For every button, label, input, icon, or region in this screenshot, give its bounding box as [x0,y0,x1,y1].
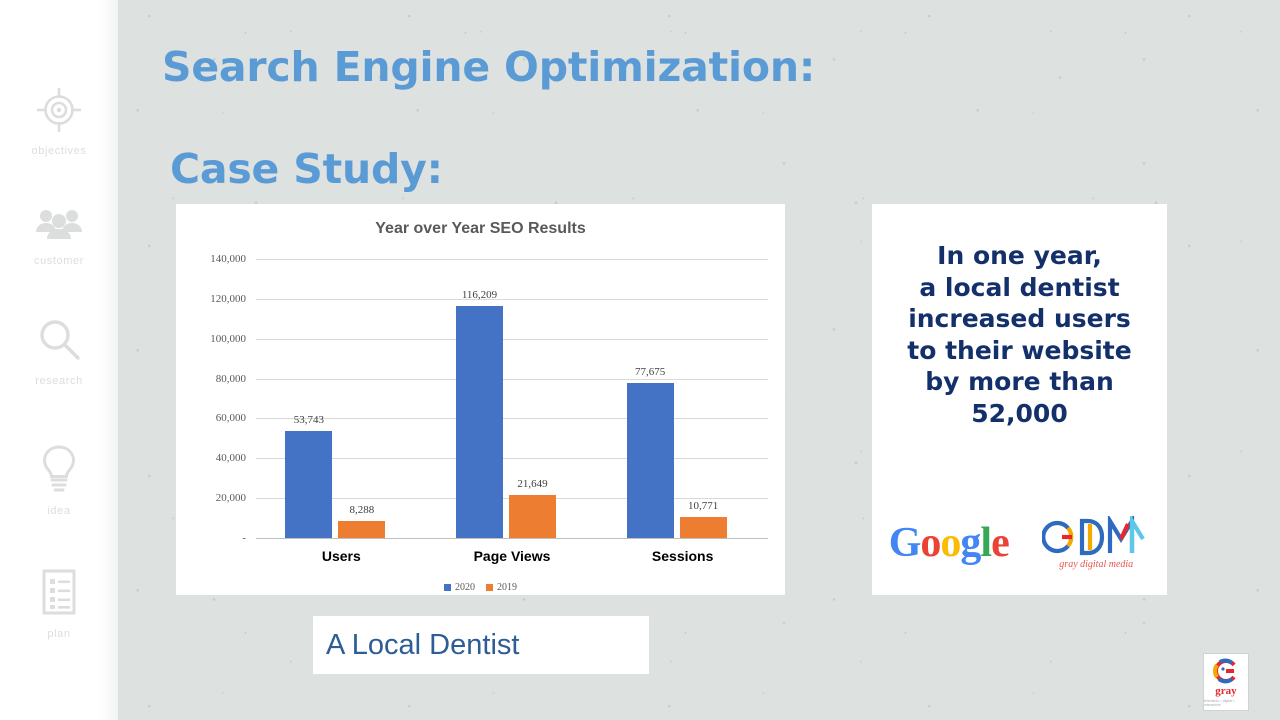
chart-bar-value: 77,675 [613,366,688,378]
gray-corner-logo: gray television • digital • interactive [1203,653,1249,711]
callout-line: 52,000 [872,398,1167,430]
gdm-tagline: gray digital media [1059,559,1133,570]
chart-bar [338,521,385,538]
chart-bar-value: 116,209 [442,289,517,301]
caption-text: A Local Dentist [313,629,519,662]
sidebar-item-label: objectives [32,145,87,157]
caption-box: A Local Dentist [313,616,649,674]
chart-bar [456,306,503,538]
sidebar-item-label: research [35,375,83,387]
sidebar-item-objectives[interactable]: objectives [0,85,118,157]
chart-bar [627,383,674,538]
chart-bar-value: 8,288 [324,504,399,516]
chart-category-label: Sessions [603,548,763,564]
callout-text: In one year,a local dentistincreased use… [872,240,1167,429]
sidebar-item-idea[interactable]: idea [0,443,118,517]
chart-y-tick-label: 60,000 [186,412,246,424]
chart-category-label: Page Views [432,548,592,564]
target-icon [34,85,84,140]
chart-legend-label: 2020 [455,582,475,593]
sidebar-item-label: idea [47,505,70,517]
callout-line: by more than [872,366,1167,398]
chart-gridline [256,339,768,340]
chart-y-tick-label: 80,000 [186,373,246,385]
chart-bar-value: 21,649 [495,478,570,490]
sidebar-item-label: customer [34,255,84,267]
chart-legend-swatch [444,584,451,591]
google-logo: Google [889,522,1009,564]
chart-legend-label: 2019 [497,582,517,593]
sidebar-item-customer[interactable]: customer [0,205,118,267]
callout-card: In one year,a local dentistincreased use… [872,204,1167,595]
sidebar-item-research[interactable]: research [0,315,118,387]
gdm-mark-icon [1042,516,1150,558]
chart-y-tick-label: 40,000 [186,452,246,464]
callout-line: In one year, [872,240,1167,272]
chart-gridline [256,259,768,260]
chart-category-label: Users [261,548,421,564]
chart-plot-area: 140,000120,000100,00080,00060,00040,0002… [176,204,785,595]
gdm-logo: gray digital media [1042,516,1150,570]
gray-mark-icon [1212,658,1240,684]
chart-legend-swatch [486,584,493,591]
chart-bar-value: 10,771 [666,500,741,512]
chart-gridline [256,458,768,459]
checklist-icon [36,568,82,623]
lightbulb-icon [36,443,82,500]
slide-title: Search Engine Optimization: [162,46,815,89]
callout-line: to their website [872,335,1167,367]
slide-subtitle: Case Study: [170,148,443,191]
slide-canvas: objectives customer [0,0,1280,720]
chart-y-tick-label: 100,000 [186,333,246,345]
chart-legend-item: 2019 [486,582,517,593]
chart-y-tick-label: 120,000 [186,293,246,305]
chart-gridline [256,379,768,380]
magnifier-icon [34,315,84,370]
chart-bar [285,431,332,538]
chart-bar [509,495,556,538]
seo-results-chart: Year over Year SEO Results 140,000120,00… [176,204,785,595]
sidebar-item-plan[interactable]: plan [0,568,118,640]
chart-bar-value: 53,743 [271,414,346,426]
callout-line: increased users [872,303,1167,335]
callout-line: a local dentist [872,272,1167,304]
gray-wordmark: gray [1215,686,1236,697]
people-icon [34,205,84,250]
chart-y-tick-label: - [186,532,246,544]
gray-tagline: television • digital • interactive [1204,699,1248,707]
chart-bar [680,517,727,538]
chart-legend-item: 2020 [444,582,475,593]
logo-row: Google gray digital media [872,504,1167,582]
chart-legend: 20202019 [176,582,785,593]
sidebar-item-label: plan [47,628,70,640]
chart-axis-line [256,538,768,539]
sidebar-rail: objectives customer [0,0,118,720]
chart-y-tick-label: 20,000 [186,492,246,504]
chart-y-tick-label: 140,000 [186,253,246,265]
